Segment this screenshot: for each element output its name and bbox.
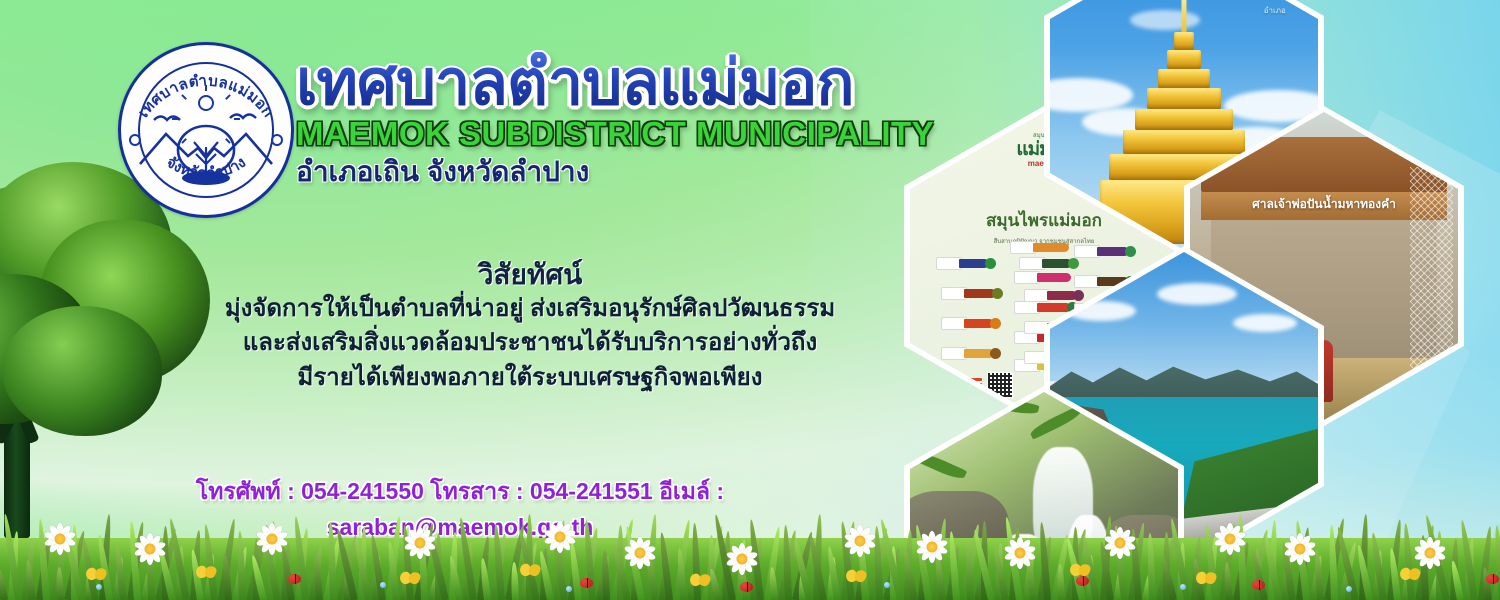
daisy-core: [1115, 538, 1126, 549]
daisy-core: [267, 534, 278, 545]
ladybug-icon: [1252, 580, 1265, 590]
ladybug-icon: [288, 574, 301, 584]
ladybug-icon: [740, 582, 753, 592]
seal-badge-left: [129, 134, 141, 146]
bird-icon: [230, 115, 256, 119]
butterfly-icon: [520, 564, 540, 578]
daisy-flower: [1003, 536, 1037, 570]
daisy-core: [737, 554, 748, 565]
sun-ray: [205, 85, 207, 91]
vision-line: และส่งเสริมสิ่งแวดล้อมประชาชนได้รับบริกา…: [180, 326, 880, 361]
page-subtitle-location: อำเภอเถิน จังหวัดลำปาง: [296, 158, 956, 186]
butterfly-icon: [1196, 572, 1216, 586]
daisy-core: [145, 544, 156, 555]
pagoda-sublabel-2: อำเภอ: [1264, 4, 1286, 17]
daisy-core: [1425, 548, 1436, 559]
page-title: เทศบาลตำบลแม่มอก: [296, 52, 956, 115]
chedi-tier: [1158, 69, 1210, 88]
daisy-flower: [725, 542, 759, 576]
tree-canopy: [2, 306, 162, 436]
chedi-tier: [1147, 88, 1221, 109]
product-item: [1014, 271, 1071, 284]
dew-drop: [380, 582, 386, 588]
butterfly-icon: [1400, 568, 1420, 582]
butterfly-icon: [690, 574, 710, 588]
butterfly-icon: [86, 568, 106, 582]
ladybug-icon: [1076, 576, 1089, 586]
bamboo-leaf: [915, 450, 967, 482]
ladybug-icon: [580, 578, 593, 588]
municipality-banner: สมุนไพร แม่มอก maemok สมุนไพรแม่มอก สืบส…: [0, 0, 1500, 600]
butterfly-icon: [400, 572, 420, 586]
chedi-tier: [1174, 32, 1194, 51]
cloud: [1233, 314, 1297, 332]
dew-drop: [1180, 584, 1186, 590]
page-title-english: MAEMOK SUBDISTRICT MUNICIPALITY: [296, 117, 956, 150]
daisy-core: [1015, 548, 1026, 559]
daisy-flower: [843, 524, 877, 558]
daisy-flower: [623, 536, 657, 570]
vision-heading: วิสัยทัศน์: [180, 258, 880, 292]
daisy-core: [927, 542, 938, 553]
daisy-core: [415, 538, 426, 549]
vision-line: มีรายได้เพียงพอภายใต้ระบบเศรษฐกิจพอเพียง: [180, 361, 880, 396]
daisy-flower: [43, 522, 77, 556]
vision-line: มุ่งจัดการให้เป็นตำบลที่น่าอยู่ ส่งเสริม…: [180, 292, 880, 327]
daisy-flower: [403, 526, 437, 560]
daisy-flower: [255, 522, 289, 556]
product-item: [941, 287, 1003, 300]
seal-emblem: [136, 104, 276, 190]
chedi-tier: [1123, 130, 1245, 154]
seal-badge-right: [271, 134, 283, 146]
product-item: [941, 347, 1001, 360]
daisy-core: [555, 532, 566, 543]
butterfly-icon: [846, 570, 866, 584]
product-item: [1010, 241, 1069, 254]
title-block: เทศบาลตำบลแม่มอก MAEMOK SUBDISTRICT MUNI…: [296, 52, 956, 186]
butterfly-icon: [196, 566, 216, 580]
daisy-flower: [1103, 526, 1137, 560]
daisy-flower: [543, 520, 577, 554]
ladybug-icon: [1486, 574, 1499, 584]
daisy-core: [855, 536, 866, 547]
product-item: [1019, 257, 1079, 270]
vision-block: วิสัยทัศน์ มุ่งจัดการให้เป็นตำบลที่น่าอย…: [180, 258, 880, 396]
daisy-core: [1225, 534, 1236, 545]
product-item: [936, 257, 996, 270]
daisy-flower: [133, 532, 167, 566]
product-item: [1024, 289, 1084, 302]
dew-drop: [96, 584, 102, 590]
daisy-flower: [1283, 532, 1317, 566]
daisy-core: [55, 534, 66, 545]
daisy-core: [635, 548, 646, 559]
bird-icon: [154, 117, 180, 121]
daisy-flower: [1213, 522, 1247, 556]
cloud: [1157, 283, 1237, 305]
mountain-icon: [140, 134, 206, 164]
municipality-seal[interactable]: เทศบาลตำบลแม่มอก จังหวัดลำปาง: [118, 42, 294, 218]
mountain-icon: [206, 134, 272, 164]
chedi-tier: [1167, 50, 1201, 69]
ground-icon: [182, 171, 230, 185]
grass-flower-border: [0, 508, 1500, 600]
daisy-flower: [1413, 536, 1447, 570]
dew-drop: [1346, 586, 1352, 592]
daisy-core: [1295, 544, 1306, 555]
dew-drop: [566, 586, 572, 592]
daisy-flower: [915, 530, 949, 564]
product-item: [1074, 245, 1136, 258]
chedi-tier: [1135, 109, 1233, 130]
dew-drop: [884, 582, 890, 588]
product-item: [941, 317, 1001, 330]
